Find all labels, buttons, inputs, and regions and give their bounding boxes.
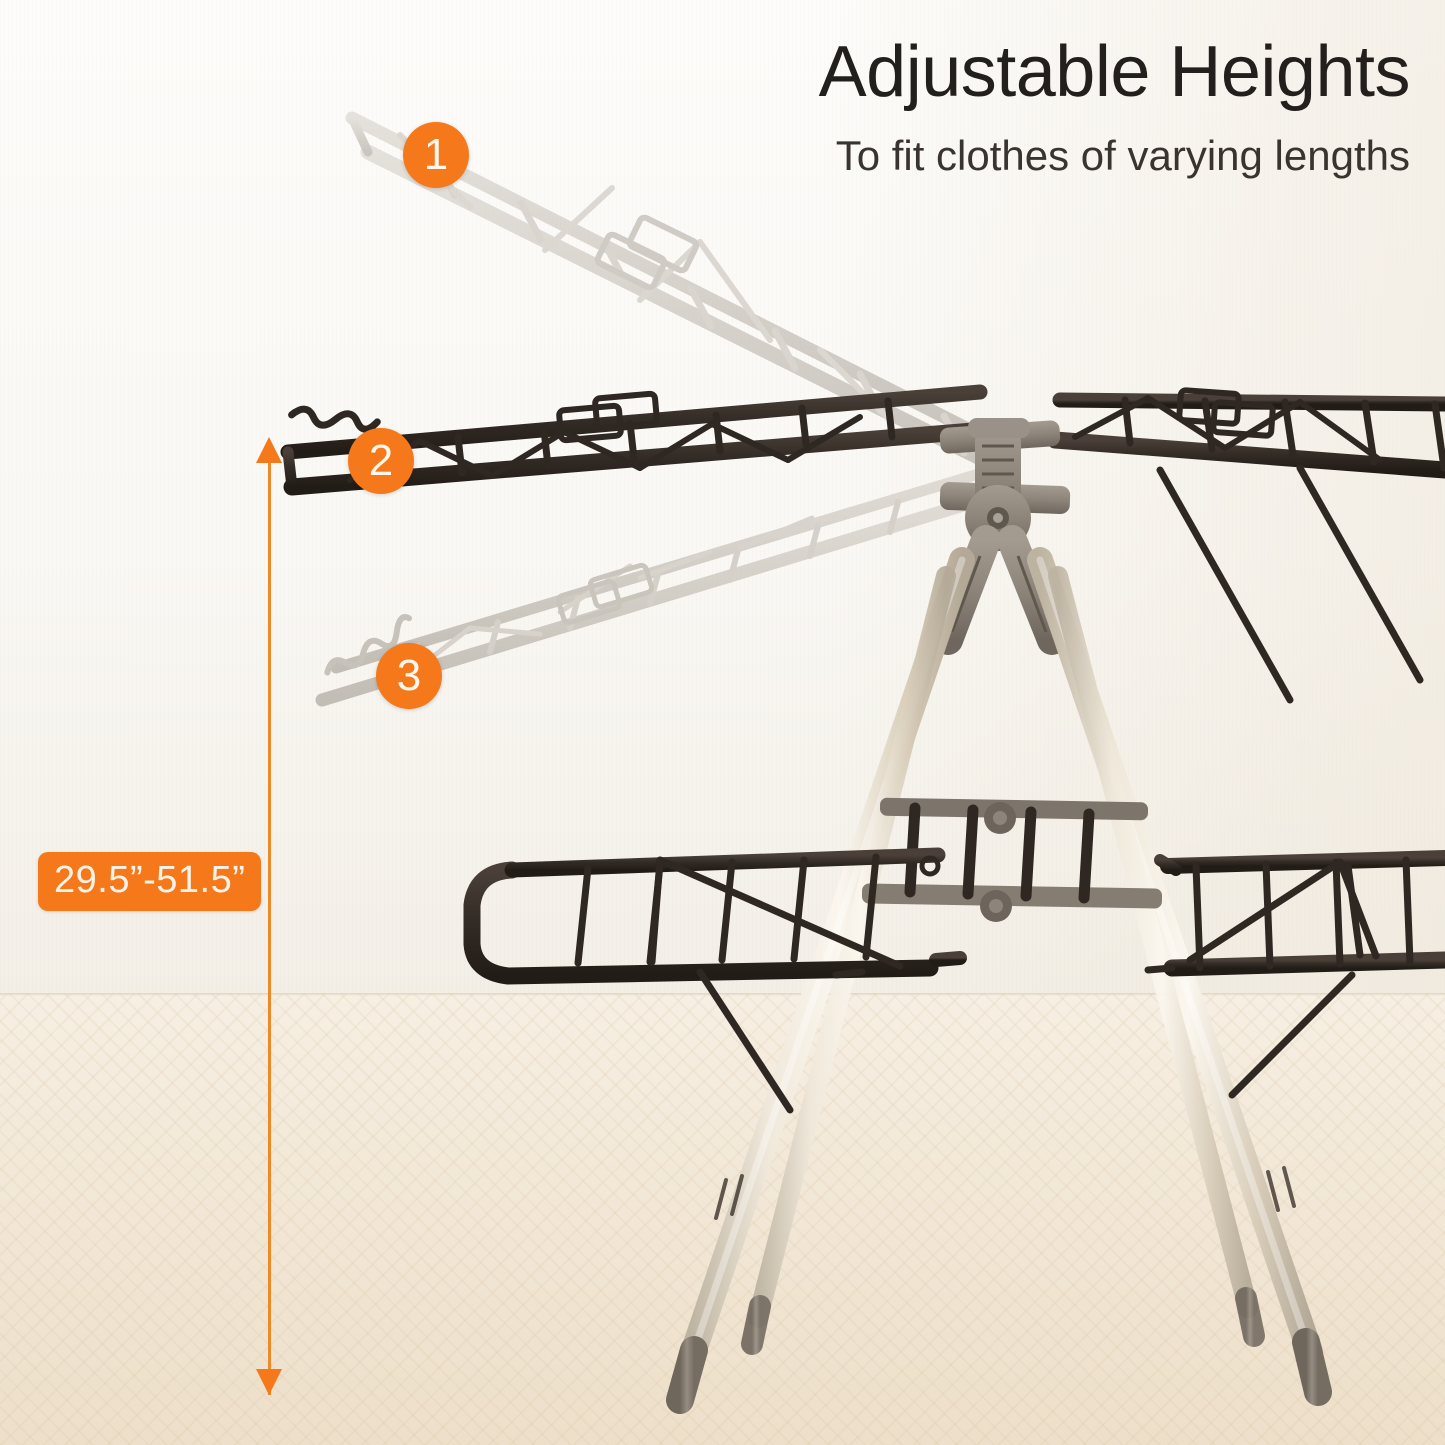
right-upper-wing	[1055, 390, 1445, 700]
height-measure-line	[268, 447, 271, 1395]
x-frame-legs	[680, 560, 1318, 1400]
height-measurement-label: 29.5”-51.5”	[38, 852, 261, 911]
callout-badge-3[interactable]: 3	[376, 643, 442, 709]
arrow-down-icon	[256, 1369, 282, 1395]
drying-rack-illustration	[0, 0, 1445, 1445]
arrow-up-icon	[256, 437, 282, 463]
callout-badge-1[interactable]: 1	[403, 122, 469, 188]
rubber-foot-caps	[680, 1298, 1318, 1400]
product-infographic: Adjustable Heights To fit clothes of var…	[0, 0, 1445, 1445]
callout-badge-2[interactable]: 2	[348, 428, 414, 494]
